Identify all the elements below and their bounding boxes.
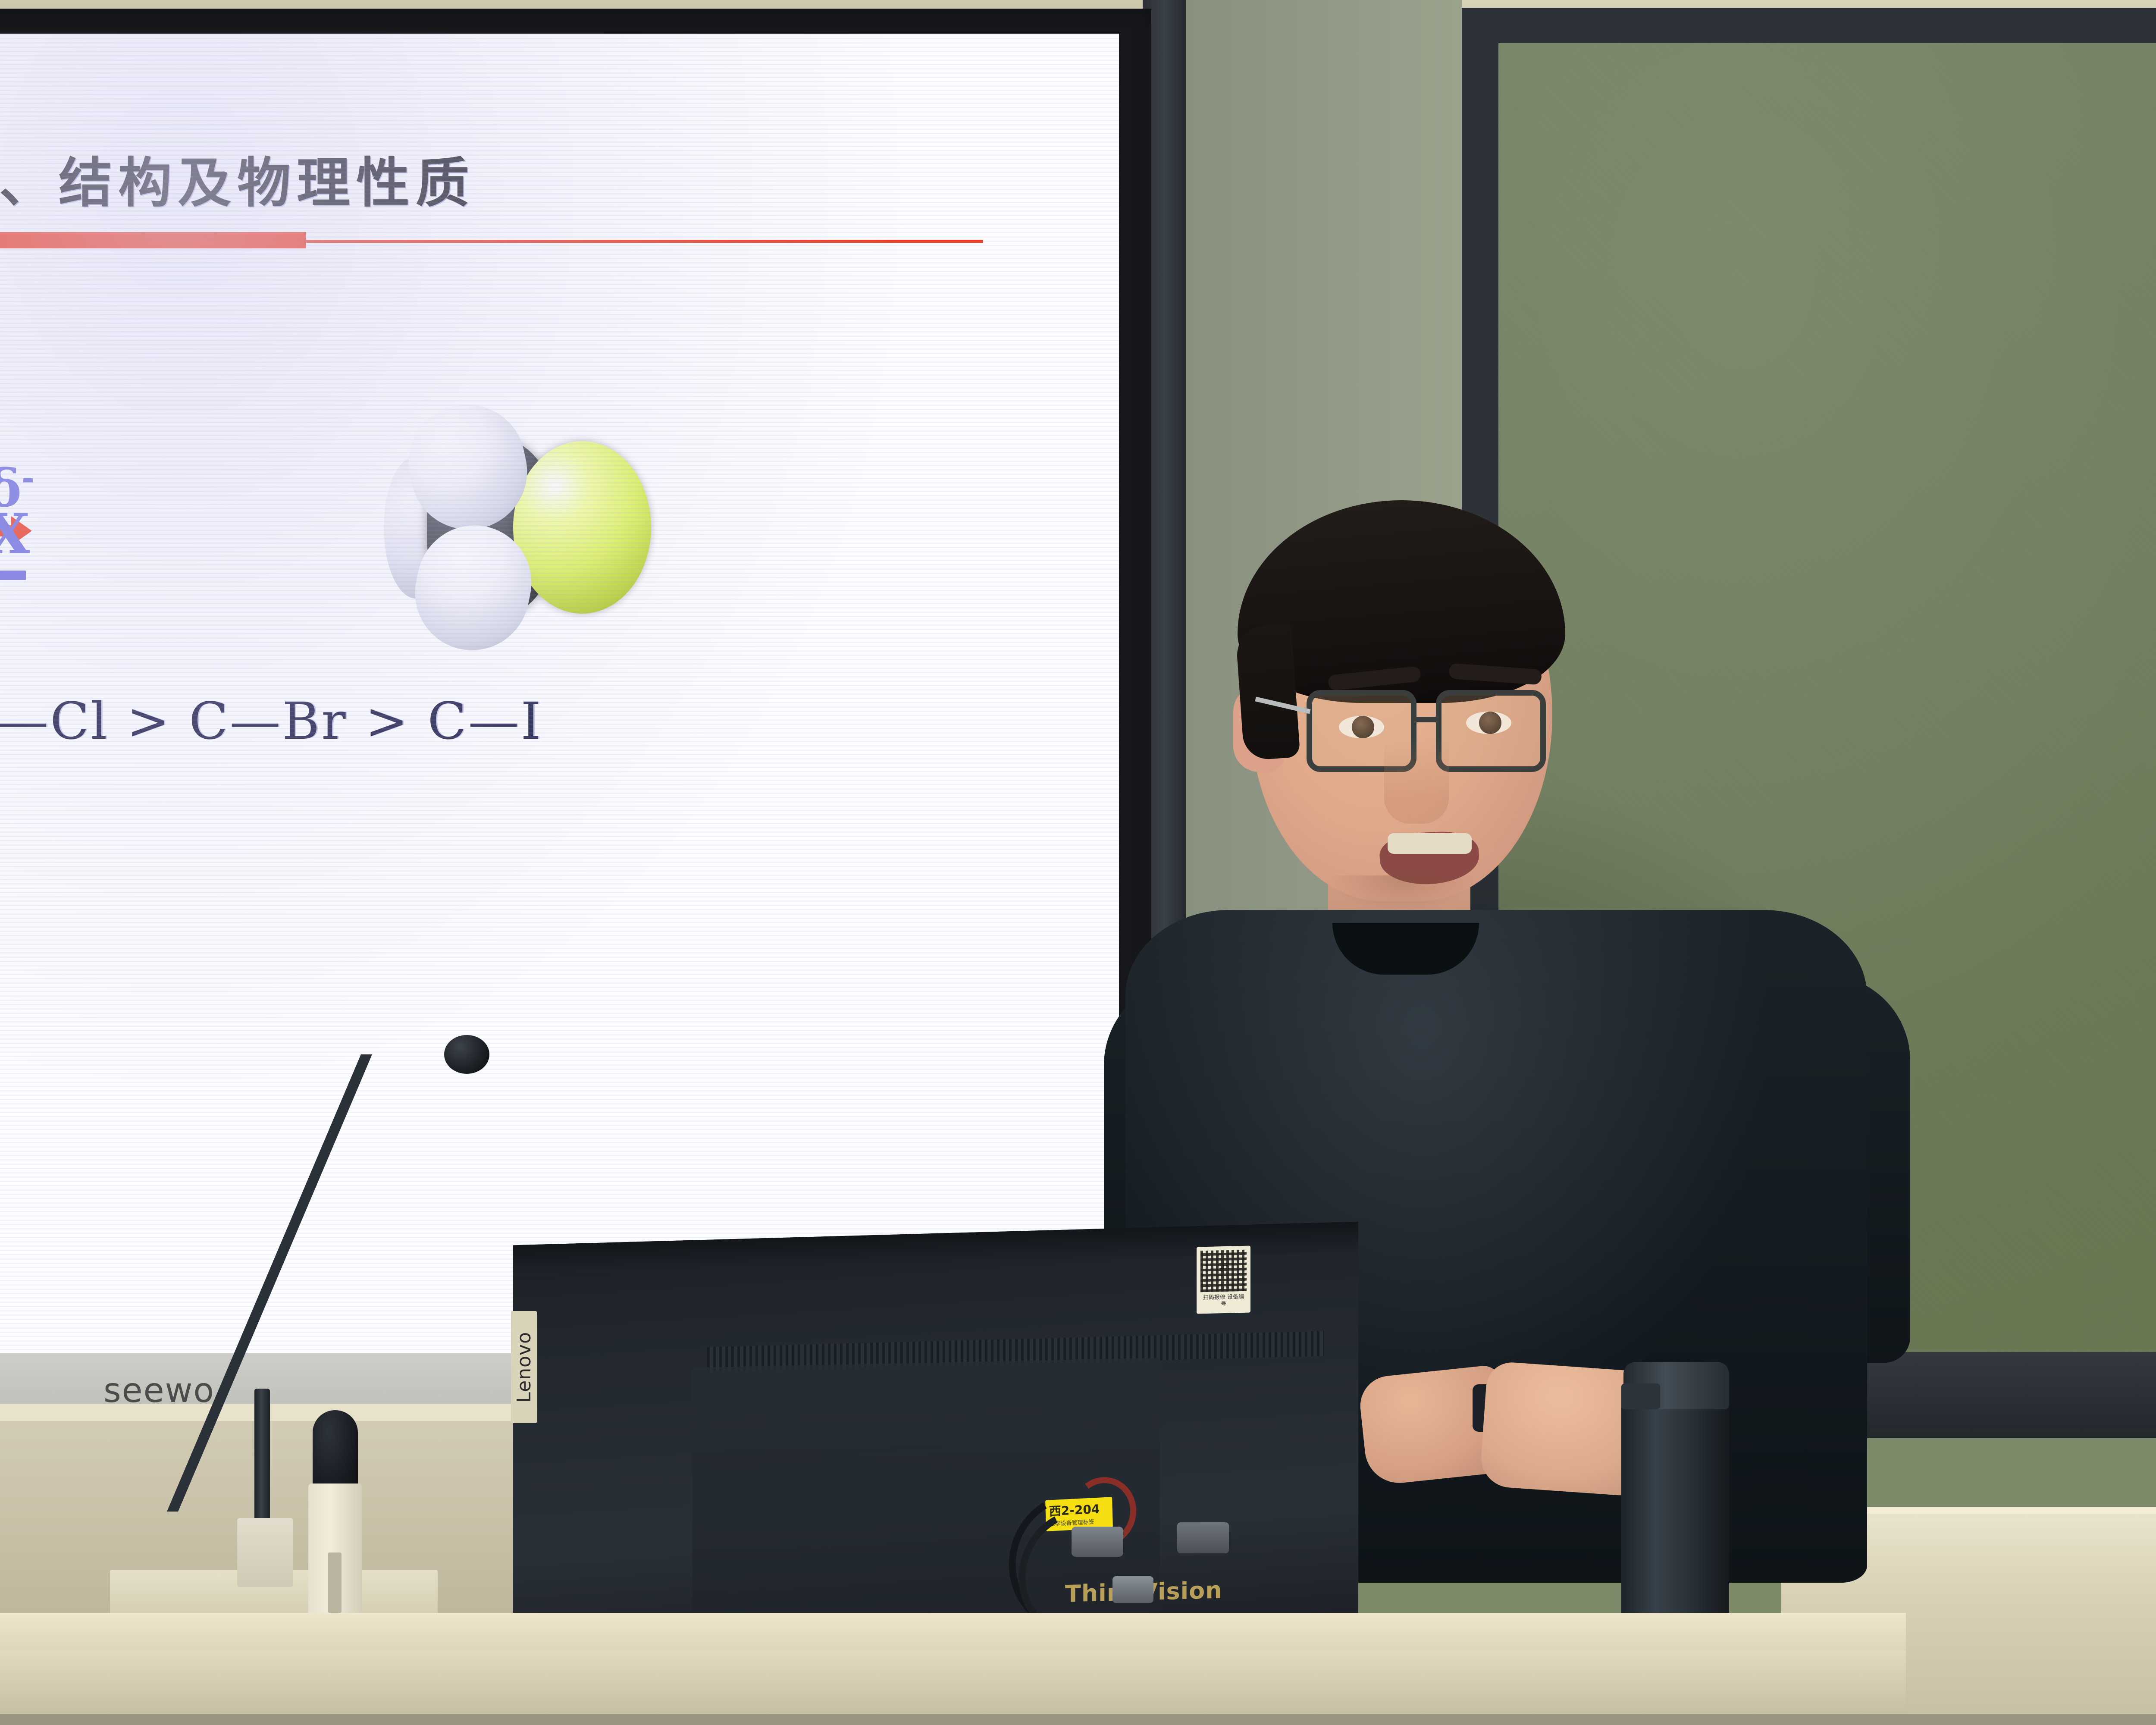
cable-connector-c [1177, 1522, 1229, 1553]
qr-sticker-caption: 扫码报修 设备编号 [1200, 1294, 1247, 1309]
computer-monitor[interactable]: Lenovo ThinkVision 扫码报修 设备编号 西2-204 教学设备… [513, 1233, 1358, 1665]
cable-connector-a [1072, 1527, 1123, 1557]
conference-mic-slot [328, 1552, 342, 1613]
presenter-teeth [1388, 833, 1472, 854]
cable-connector-b [1112, 1576, 1153, 1603]
qr-code-sticker: 扫码报修 设备编号 [1197, 1245, 1250, 1314]
qr-code-icon [1200, 1250, 1247, 1292]
bond-line [0, 571, 26, 580]
delta-sign: - [22, 459, 34, 496]
conference-microphone[interactable] [259, 1410, 371, 1634]
flask-clasp[interactable] [1621, 1383, 1660, 1409]
bond-strength-series: C—Cl > C—Br > C—I [0, 691, 542, 751]
glasses-lens-right [1436, 690, 1546, 772]
molecule-atom-fluorine [513, 441, 651, 614]
interactive-display-screen[interactable]: 名、结构及物理性质 δ- X C—Cl > C—Br > C—I [0, 34, 1119, 1353]
partial-charge-annotation: δ- X [0, 465, 34, 560]
lenovo-brand-label: Lenovo [513, 1332, 535, 1403]
glasses-bridge [1415, 717, 1440, 722]
presenter-nose [1384, 737, 1449, 824]
halogen-symbol: X [0, 510, 34, 559]
molecule-model [371, 396, 690, 663]
lenovo-brand-badge: Lenovo [511, 1311, 537, 1423]
floor-strip [0, 1714, 2156, 1725]
slide-title-rule-thin [302, 240, 983, 243]
presenter-hair-side [1235, 624, 1300, 761]
slide-title-rule-thick [0, 232, 306, 248]
slide-title: 名、结构及物理性质 [0, 139, 475, 217]
classroom-scene: H C H H H H C H H H H R—C—X 选择 [0, 0, 2156, 1725]
presenter-chin-shadow [1328, 875, 1475, 914]
podium-surface [0, 1613, 1906, 1652]
